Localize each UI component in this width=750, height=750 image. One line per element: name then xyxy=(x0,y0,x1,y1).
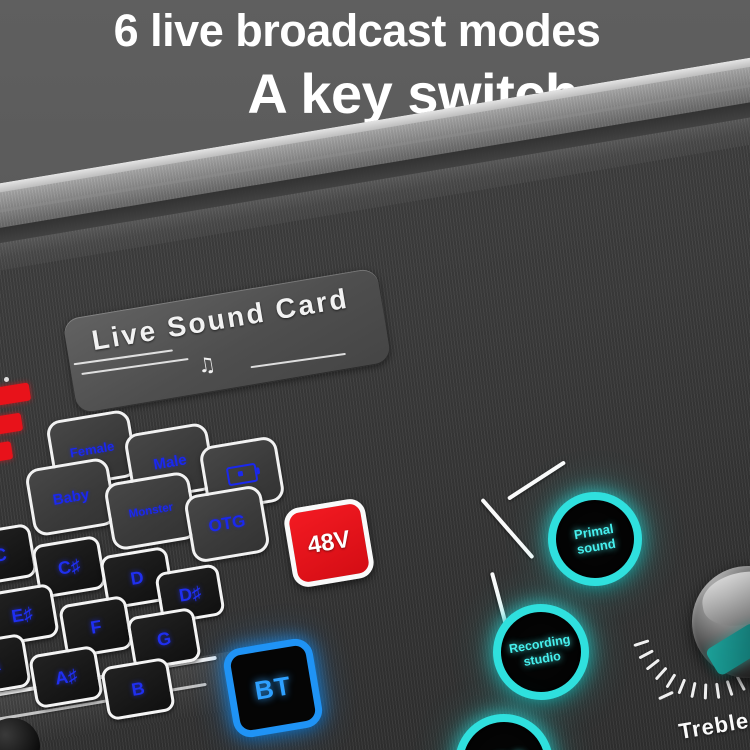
note-key-a-sharp[interactable]: A♯ xyxy=(28,645,104,709)
music-note-icon: ♫ xyxy=(196,351,218,378)
logo-decor-line-3 xyxy=(251,353,346,368)
button-female-label: Female xyxy=(69,438,116,460)
note-key-f-label: F xyxy=(89,616,103,639)
knob-tick-6 xyxy=(677,678,686,694)
note-key-c-sharp-label: C♯ xyxy=(56,555,81,579)
note-key-a-sharp-label: A♯ xyxy=(53,665,78,689)
note-key-c-label: C xyxy=(0,544,8,567)
note-key-b-label: B xyxy=(130,678,146,701)
button-otg-label: OTG xyxy=(207,511,247,537)
led-indicator-dot xyxy=(4,377,9,382)
knob-tick-4 xyxy=(704,683,708,699)
button-48v-label: 48V xyxy=(306,526,353,561)
button-bluetooth-label: BT xyxy=(252,670,293,707)
button-male-label: Male xyxy=(152,451,188,473)
button-recording-studio-label: Recording studio xyxy=(508,632,574,671)
note-key-d-label: D xyxy=(129,567,145,590)
note-key-d-sharp-label: D♯ xyxy=(177,582,202,606)
button-primal-sound-label: Primal sound xyxy=(573,521,617,558)
knob-indicator xyxy=(705,622,750,677)
treble-knob-group[interactable]: Treble xyxy=(640,548,750,748)
note-key-e-sharp-label: E♯ xyxy=(10,603,34,627)
knob-tick-5 xyxy=(690,682,696,698)
button-otg[interactable]: OTG xyxy=(183,484,271,564)
battery-icon xyxy=(226,462,259,486)
knob-tick-2 xyxy=(726,680,734,696)
button-baby-label: Baby xyxy=(52,486,91,509)
knob-tick-8 xyxy=(655,667,668,681)
knob-tick-10 xyxy=(638,649,654,659)
treble-label-dash xyxy=(658,691,674,700)
treble-knob[interactable] xyxy=(684,558,750,687)
note-key-b[interactable]: B xyxy=(100,657,176,721)
product-banner: 6 live broadcast modes A key switch Acou… xyxy=(0,0,750,750)
knob-tick-7 xyxy=(665,673,676,688)
knob-tick-3 xyxy=(715,683,720,699)
knob-tick-9 xyxy=(646,658,660,670)
page-title-line1: 6 live broadcast modes xyxy=(0,8,750,53)
note-key-g-label: G xyxy=(155,627,172,650)
button-bluetooth[interactable]: BT xyxy=(221,636,325,740)
button-baby[interactable]: Baby xyxy=(24,457,118,538)
note-key-a-label: A xyxy=(0,654,2,677)
knob-cap-highlight xyxy=(698,565,750,630)
treble-label: Treble xyxy=(677,693,750,745)
button-monster-label: Monster xyxy=(128,501,174,520)
button-48v-phantom-power[interactable]: 48V xyxy=(282,497,376,589)
